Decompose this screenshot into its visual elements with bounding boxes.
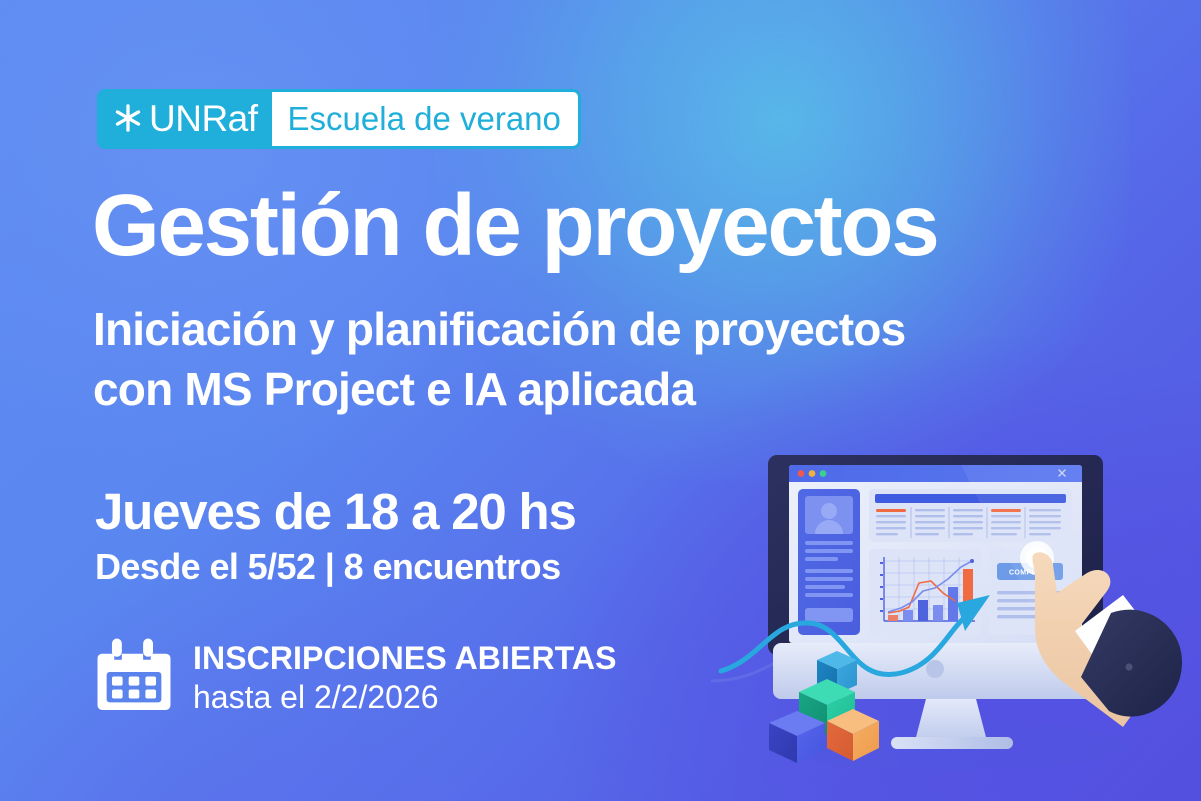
schedule-block: Jueves de 18 a 20 hs Desde el 5/52 | 8 e… bbox=[95, 486, 576, 589]
project-management-illustration: COMPLETE bbox=[751, 445, 1181, 795]
enrollment-status: INSCRIPCIONES ABIERTAS bbox=[193, 641, 617, 677]
enrollment-deadline: hasta el 2/2/2026 bbox=[193, 679, 617, 716]
poster-canvas: UNRaf Escuela de verano Gestión de proye… bbox=[0, 0, 1201, 801]
page-title: Gestión de proyectos bbox=[92, 182, 938, 269]
program-badge: Escuela de verano bbox=[272, 89, 581, 149]
schedule-start-sessions: Desde el 5/52 | 8 encuentros bbox=[95, 544, 576, 589]
profile-action-button bbox=[805, 608, 853, 622]
traffic-light-close bbox=[798, 470, 805, 477]
unraf-logo-lockup: UNRaf Escuela de verano bbox=[97, 89, 581, 149]
traffic-light-minimize bbox=[809, 470, 816, 477]
subtitle-line-2: con MS Project e IA aplicada bbox=[93, 360, 905, 420]
chart-endpoint bbox=[970, 559, 974, 563]
asterisk-star-icon bbox=[113, 103, 143, 133]
cuff-button bbox=[1125, 663, 1132, 670]
subtitle-line-1: Iniciación y planificación de proyectos bbox=[93, 300, 905, 360]
traffic-light-maximize bbox=[820, 470, 827, 477]
schedule-days-time: Jueves de 18 a 20 hs bbox=[95, 486, 576, 538]
enrollment-block: INSCRIPCIONES ABIERTAS hasta el 2/2/2026 bbox=[96, 636, 617, 716]
calendar-icon bbox=[96, 637, 172, 713]
enrollment-text: INSCRIPCIONES ABIERTAS hasta el 2/2/2026 bbox=[193, 636, 617, 716]
avatar bbox=[821, 503, 837, 519]
page-subtitle: Iniciación y planificación de proyectos … bbox=[93, 300, 905, 420]
program-label: Escuela de verano bbox=[288, 102, 561, 135]
unraf-logo-badge: UNRaf bbox=[97, 89, 272, 149]
monitor-base bbox=[891, 737, 1013, 749]
monitor-power-led bbox=[926, 660, 944, 678]
monitor-stand bbox=[915, 695, 987, 741]
unraf-wordmark: UNRaf bbox=[149, 100, 258, 137]
